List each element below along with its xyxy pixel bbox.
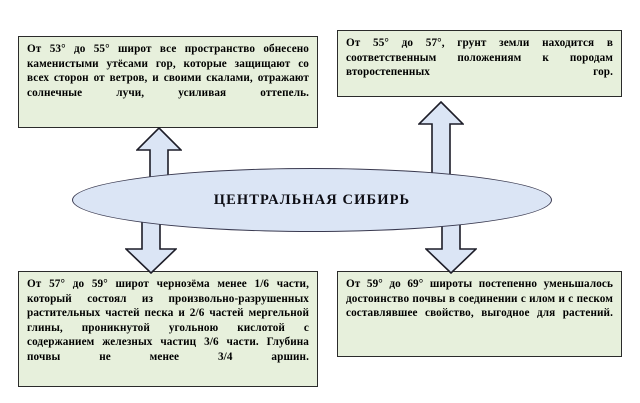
central-node[interactable]: ЦЕНТРАЛЬНАЯ СИБИРЬ xyxy=(72,168,552,232)
text-box-top-left-text: От 53° до 55° широт все пространство обн… xyxy=(27,42,309,115)
text-box-bottom-right-text: От 59° до 69° широты постепенно уменьшал… xyxy=(346,277,613,335)
text-box-bottom-right[interactable]: От 59° до 69° широты постепенно уменьшал… xyxy=(337,271,622,357)
text-box-top-right[interactable]: От 55° до 57°, грунт земли находится в с… xyxy=(337,30,622,97)
central-node-label: ЦЕНТРАЛЬНАЯ СИБИРЬ xyxy=(214,192,410,209)
text-box-bottom-left-text: От 57° до 59° широт чернозёма менее 1/6 … xyxy=(27,277,309,379)
diagram-canvas: От 53° до 55° широт все пространство обн… xyxy=(0,0,640,403)
text-box-top-left[interactable]: От 53° до 55° широт все пространство обн… xyxy=(18,36,318,128)
text-box-bottom-left[interactable]: От 57° до 59° широт чернозёма менее 1/6 … xyxy=(18,271,318,387)
text-box-top-right-text: От 55° до 57°, грунт земли находится в с… xyxy=(346,36,613,94)
arrow-up-icon xyxy=(418,101,464,183)
